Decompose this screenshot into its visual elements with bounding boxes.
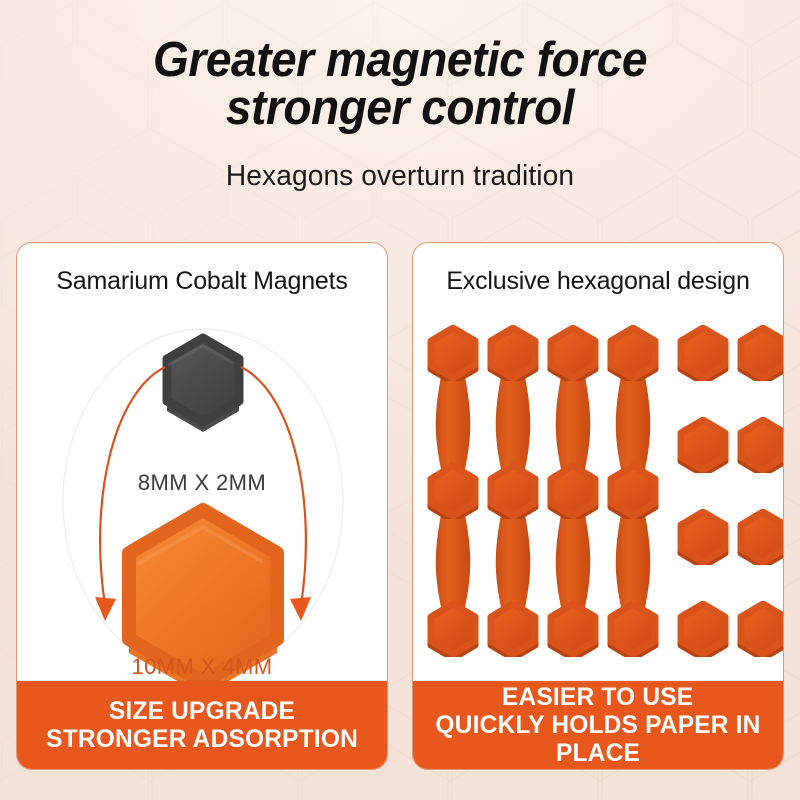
magnet-comparison-illustration: 8MM X 2MM 10MM X 4MM <box>17 305 387 681</box>
headline-line-1: Greater magnetic force <box>153 33 647 87</box>
small-magnet-label: 8MM X 2MM <box>17 470 387 496</box>
small-magnet-shape <box>167 338 239 432</box>
hexagon-grid-icon <box>413 305 784 683</box>
footer-right-line-2: QUICKLY HOLDS PAPER IN PLACE <box>417 711 780 767</box>
page-headline: Greater magnetic force stronger control <box>24 36 776 132</box>
card-title-right: Exclusive hexagonal design <box>413 267 783 296</box>
footer-left-line-1: SIZE UPGRADE <box>109 697 295 725</box>
arrow-head-left <box>95 597 116 621</box>
card-body-right <box>413 305 783 681</box>
card-footer-right: EASIER TO USE QUICKLY HOLDS PAPER IN PLA… <box>413 681 783 769</box>
arrow-head-right <box>290 597 311 621</box>
card-samarium-cobalt-magnets: Samarium Cobalt Magnets <box>16 242 388 770</box>
card-footer-left: SIZE UPGRADE STRONGER ADSORPTION <box>17 681 387 769</box>
footer-right-line-1: EASIER TO USE <box>502 683 693 711</box>
card-exclusive-hexagonal-design: Exclusive hexagonal design <box>412 242 784 770</box>
hexagon-grid-illustration <box>413 305 783 681</box>
card-title-left: Samarium Cobalt Magnets <box>17 267 387 296</box>
page-subheadline: Hexagons overturn tradition <box>12 160 788 193</box>
loose-hexagons <box>681 328 784 658</box>
large-magnet-label: 10MM X 4MM <box>17 654 387 680</box>
poster-root: Greater magnetic force stronger control … <box>0 0 800 800</box>
headline-line-2: stronger control <box>24 84 776 132</box>
strip-hexagons <box>431 328 655 658</box>
card-body-left: 8MM X 2MM 10MM X 4MM <box>17 305 387 681</box>
footer-left-line-2: STRONGER ADSORPTION <box>46 725 358 753</box>
